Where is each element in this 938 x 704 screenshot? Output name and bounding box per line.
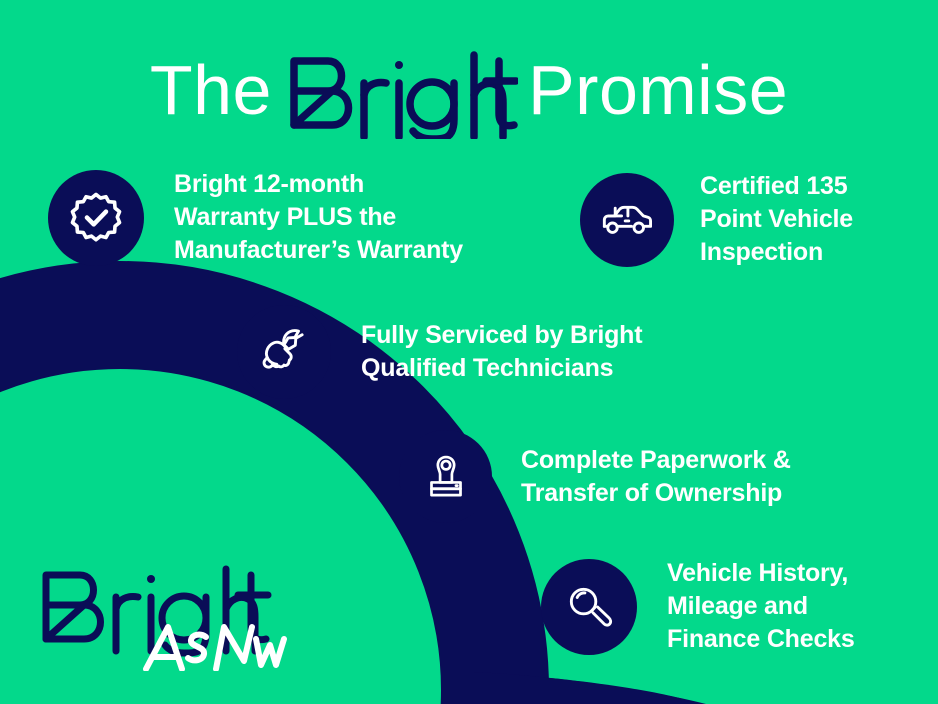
page-title: The	[0, 44, 938, 136]
feature-label-checks: Vehicle History, Mileage and Finance Che…	[667, 557, 855, 656]
decorative-wedge-fill	[474, 672, 706, 704]
verified-badge-icon	[48, 170, 144, 266]
feature-label-paperwork: Complete Paperwork & Transfer of Ownersh…	[521, 444, 791, 510]
rubber-stamp-icon	[399, 430, 492, 523]
car-icon	[580, 173, 674, 267]
feature-label-inspection: Certified 135 Point Vehicle Inspection	[700, 170, 853, 269]
feature-item-serviced: Fully Serviced by Bright Qualified Techn…	[237, 305, 642, 399]
magnifying-glass-icon	[541, 559, 637, 655]
brightasnew-logo	[40, 561, 290, 671]
feature-label-serviced: Fully Serviced by Bright Qualified Techn…	[361, 319, 642, 385]
feature-item-warranty: Bright 12-month Warranty PLUS the Manufa…	[48, 168, 463, 267]
decorative-wedge	[475, 673, 700, 704]
title-suffix: Promise	[528, 55, 788, 125]
feature-item-paperwork: Complete Paperwork & Transfer of Ownersh…	[399, 430, 791, 523]
hand-wrench-icon	[237, 305, 331, 399]
promise-poster: The	[0, 0, 938, 704]
bright-wordmark-logo	[286, 47, 518, 139]
title-prefix: The	[150, 55, 272, 125]
feature-item-checks: Vehicle History, Mileage and Finance Che…	[541, 557, 855, 656]
feature-item-inspection: Certified 135 Point Vehicle Inspection	[580, 170, 853, 269]
feature-label-warranty: Bright 12-month Warranty PLUS the Manufa…	[174, 168, 463, 267]
